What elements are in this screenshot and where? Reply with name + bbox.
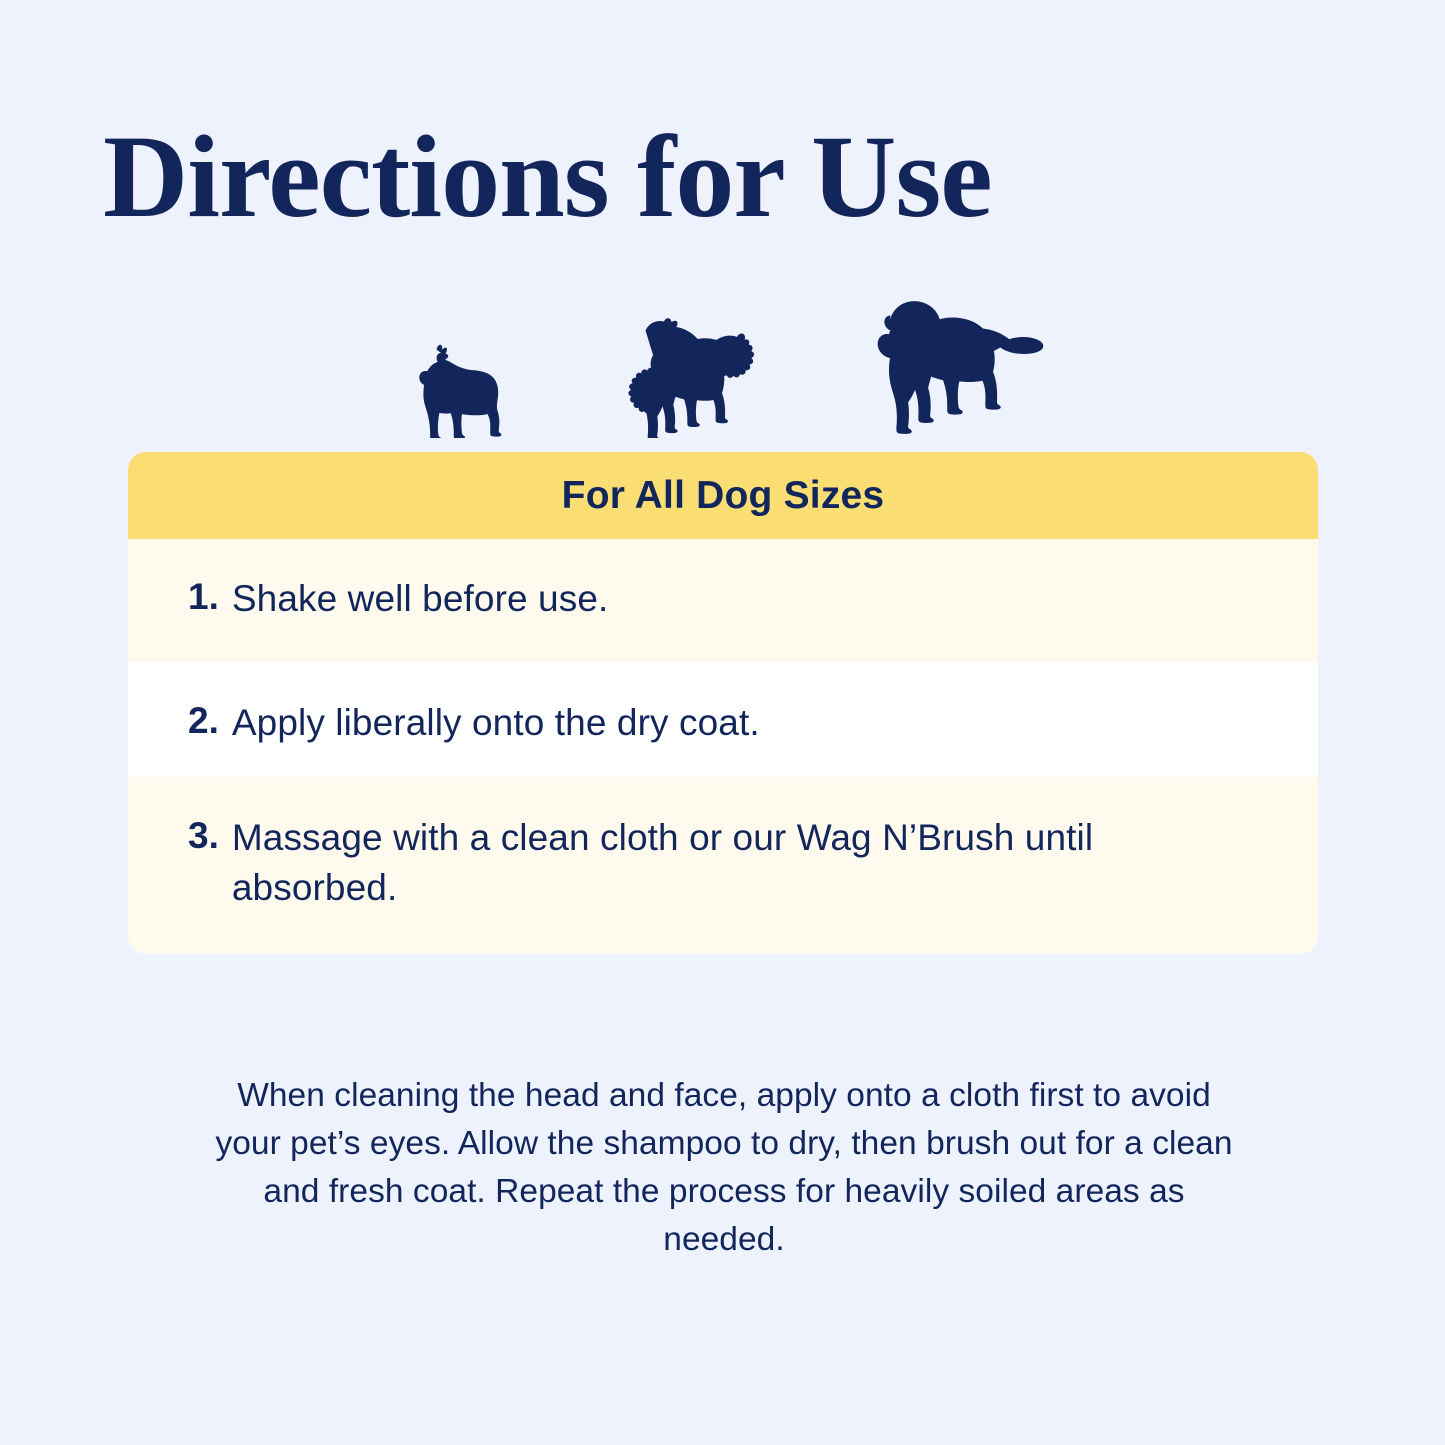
step-row: 2. Apply liberally onto the dry coat. <box>128 662 1318 777</box>
step-row: 3. Massage with a clean cloth or our Wag… <box>128 777 1318 954</box>
step-text: Apply liberally onto the dry coat. <box>232 698 760 748</box>
step-number: 1. <box>188 574 219 620</box>
step-text: Shake well before use. <box>232 574 609 624</box>
step-number: 3. <box>188 813 219 859</box>
step-row: 1. Shake well before use. <box>128 539 1318 662</box>
footnote-text: When cleaning the head and face, apply o… <box>200 1072 1248 1264</box>
card-header: For All Dog Sizes <box>128 452 1318 539</box>
card-header-title: For All Dog Sizes <box>562 476 885 515</box>
step-number: 2. <box>188 698 219 744</box>
medium-dog-silhouette <box>618 313 768 438</box>
page-title: Directions for Use <box>103 118 1343 236</box>
for-all-dog-sizes-card: For All Dog Sizes 1. Shake well before u… <box>128 452 1318 954</box>
dog-size-illustration <box>0 288 1445 438</box>
large-dog-silhouette <box>858 298 1054 438</box>
directions-for-use-page: Directions for Use For All Dog Sizes 1. … <box>0 0 1445 1445</box>
small-dog-silhouette <box>398 343 510 438</box>
step-text: Massage with a clean cloth or our Wag N’… <box>232 813 1252 913</box>
